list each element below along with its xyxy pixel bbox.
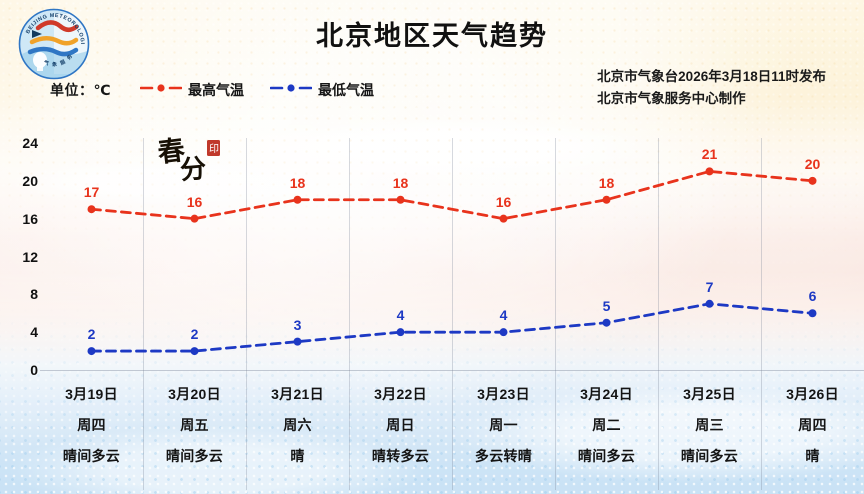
day-date: 3月23日 — [477, 384, 530, 404]
unit-label: 单位：℃ — [50, 80, 111, 100]
data-point-label: 16 — [187, 194, 203, 210]
day-column-5: 3月23日周一多云转晴 — [452, 372, 555, 490]
day-column-2: 3月20日周五晴间多云 — [143, 372, 246, 490]
day-date: 3月20日 — [168, 384, 221, 404]
day-condition: 晴间多云 — [63, 446, 120, 466]
data-point-marker — [809, 309, 817, 317]
day-date: 3月25日 — [683, 384, 736, 404]
page-title: 北京地区天气趋势 — [0, 14, 864, 53]
day-column-8: 3月26日周四晴 — [761, 372, 864, 490]
data-point-label: 5 — [603, 298, 611, 314]
day-condition: 多云转晴 — [475, 446, 532, 466]
data-point-label: 18 — [290, 175, 306, 191]
y-axis-tick-0: 0 — [4, 362, 38, 378]
data-point-label: 6 — [809, 288, 817, 304]
data-point-marker — [603, 196, 611, 204]
y-axis-tick-16: 16 — [4, 211, 38, 227]
day-weekday: 周四 — [77, 415, 106, 435]
legend-item-high: 最高气温 — [140, 80, 244, 100]
data-point-marker — [397, 328, 405, 336]
y-axis-tick-4: 4 — [4, 324, 38, 340]
day-column-4: 3月22日周日晴转多云 — [349, 372, 452, 490]
day-weekday: 周六 — [283, 415, 312, 435]
data-point-label: 2 — [191, 326, 199, 342]
day-condition: 晴间多云 — [166, 446, 223, 466]
day-weekday: 周一 — [489, 415, 518, 435]
chart-legend: 最高气温 最低气温 — [140, 80, 374, 100]
legend-label-low: 最低气温 — [318, 80, 374, 100]
day-condition: 晴 — [290, 446, 304, 466]
data-point-marker — [191, 347, 199, 355]
day-condition: 晴间多云 — [578, 446, 635, 466]
data-point-label: 20 — [805, 156, 821, 172]
data-point-marker — [809, 177, 817, 185]
svg-text:印: 印 — [209, 143, 219, 155]
day-weekday: 周日 — [386, 415, 415, 435]
legend-label-high: 最高气温 — [188, 80, 244, 100]
day-forecast-row: 3月19日周四晴间多云3月20日周五晴间多云3月21日周六晴3月22日周日晴转多… — [40, 372, 864, 490]
day-condition: 晴转多云 — [372, 446, 429, 466]
data-point-marker — [397, 196, 405, 204]
data-point-label: 3 — [294, 317, 302, 333]
publisher-info: 北京市气象台2026年3月18日11时发布 北京市气象服务中心制作 — [597, 66, 826, 111]
day-column-6: 3月24日周二晴间多云 — [555, 372, 658, 490]
data-point-label: 2 — [88, 326, 96, 342]
day-column-1: 3月19日周四晴间多云 — [40, 372, 143, 490]
data-point-label: 21 — [702, 146, 718, 162]
day-date: 3月21日 — [271, 384, 324, 404]
legend-item-low: 最低气温 — [270, 80, 374, 100]
day-date: 3月19日 — [65, 384, 118, 404]
y-axis-tick-12: 12 — [4, 249, 38, 265]
day-weekday: 周三 — [695, 415, 724, 435]
day-weekday: 周四 — [798, 415, 827, 435]
legend-marker-low-icon — [270, 81, 312, 99]
data-point-label: 17 — [84, 184, 100, 200]
data-point-marker — [706, 300, 714, 308]
y-axis-tick-8: 8 — [4, 286, 38, 302]
publisher-line-2: 北京市气象服务中心制作 — [597, 88, 826, 110]
day-weekday: 周五 — [180, 415, 209, 435]
data-point-label: 4 — [397, 307, 405, 323]
day-weekday: 周二 — [592, 415, 621, 435]
data-point-marker — [294, 196, 302, 204]
weather-trend-poster: BEIJING METEOROLOGICAL SERVICE 气 象 服 务 北… — [0, 0, 864, 494]
data-point-marker — [500, 328, 508, 336]
data-point-marker — [500, 215, 508, 223]
data-point-label: 16 — [496, 194, 512, 210]
day-column-7: 3月25日周三晴间多云 — [658, 372, 761, 490]
data-point-marker — [88, 205, 96, 213]
day-column-3: 3月21日周六晴 — [246, 372, 349, 490]
day-date: 3月22日 — [374, 384, 427, 404]
data-point-label: 4 — [500, 307, 508, 323]
data-point-label: 18 — [599, 175, 615, 191]
x-axis-baseline — [40, 370, 864, 371]
day-condition: 晴 — [805, 446, 819, 466]
day-condition: 晴间多云 — [681, 446, 738, 466]
day-date: 3月24日 — [580, 384, 633, 404]
y-axis-tick-24: 24 — [4, 135, 38, 151]
y-axis-tick-20: 20 — [4, 173, 38, 189]
data-point-marker — [706, 167, 714, 175]
publisher-line-1: 北京市气象台2026年3月18日11时发布 — [597, 66, 826, 88]
data-point-marker — [294, 338, 302, 346]
data-point-label: 18 — [393, 175, 409, 191]
data-point-marker — [603, 319, 611, 327]
data-point-marker — [191, 215, 199, 223]
day-date: 3月26日 — [786, 384, 839, 404]
series-line-low — [92, 304, 813, 351]
data-point-label: 7 — [706, 279, 714, 295]
svg-text:分: 分 — [179, 154, 208, 186]
data-point-marker — [88, 347, 96, 355]
spring-equinox-seal-icon: 春 分 印 — [155, 132, 235, 188]
legend-marker-high-icon — [140, 81, 182, 99]
